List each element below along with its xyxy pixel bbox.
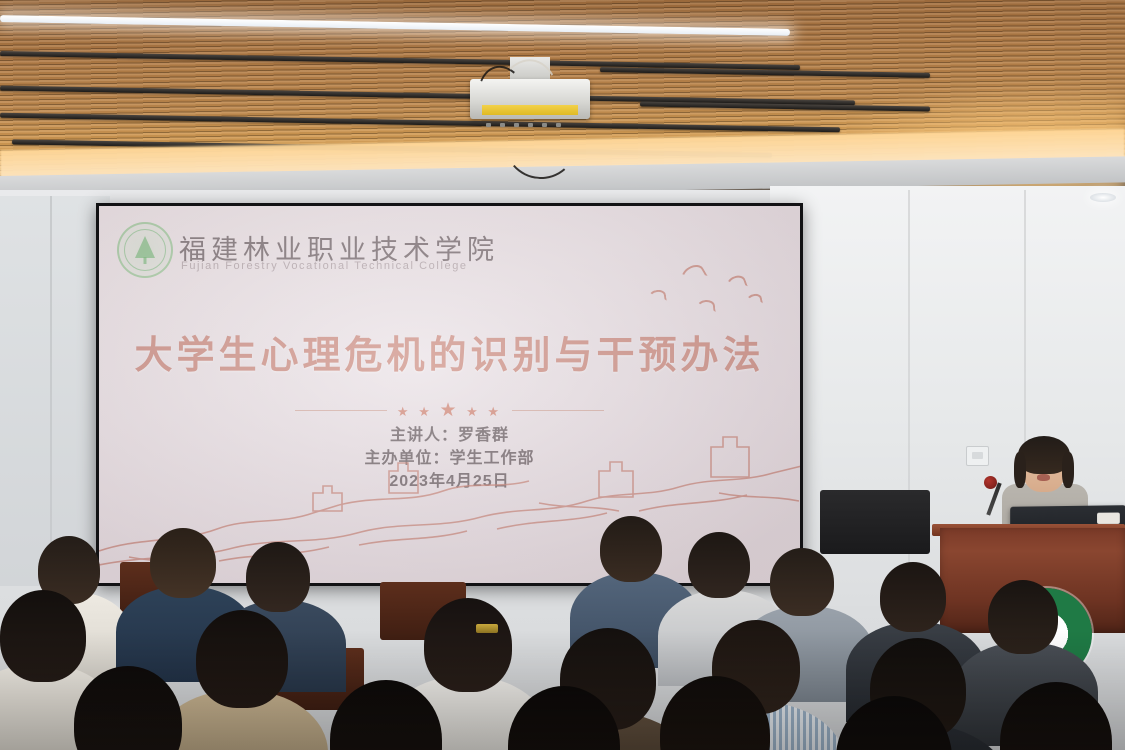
- audience-area: [0, 470, 1125, 750]
- projector-icon: [470, 57, 590, 119]
- ceiling-downlight-icon: [1090, 193, 1116, 202]
- lecture-hall-scene: 福建林业职业技术学院 Fujian Forestry Vocational Te…: [0, 0, 1125, 750]
- hair-clip: [476, 624, 498, 633]
- chair-back: [820, 490, 930, 554]
- slide-title: 大学生心理危机的识别与干预办法: [99, 324, 800, 379]
- slide-divider: ★ ★ ★ ★ ★: [99, 402, 800, 418]
- divider-line-right: [512, 410, 604, 411]
- flying-birds-icon: [639, 256, 759, 316]
- college-logo-icon: [117, 222, 173, 278]
- institution-name-en: Fujian Forestry Vocational Technical Col…: [181, 260, 468, 272]
- divider-stars: ★ ★ ★ ★ ★: [397, 401, 502, 420]
- wall-outlet-icon: [966, 446, 989, 466]
- divider-line-left: [295, 410, 387, 411]
